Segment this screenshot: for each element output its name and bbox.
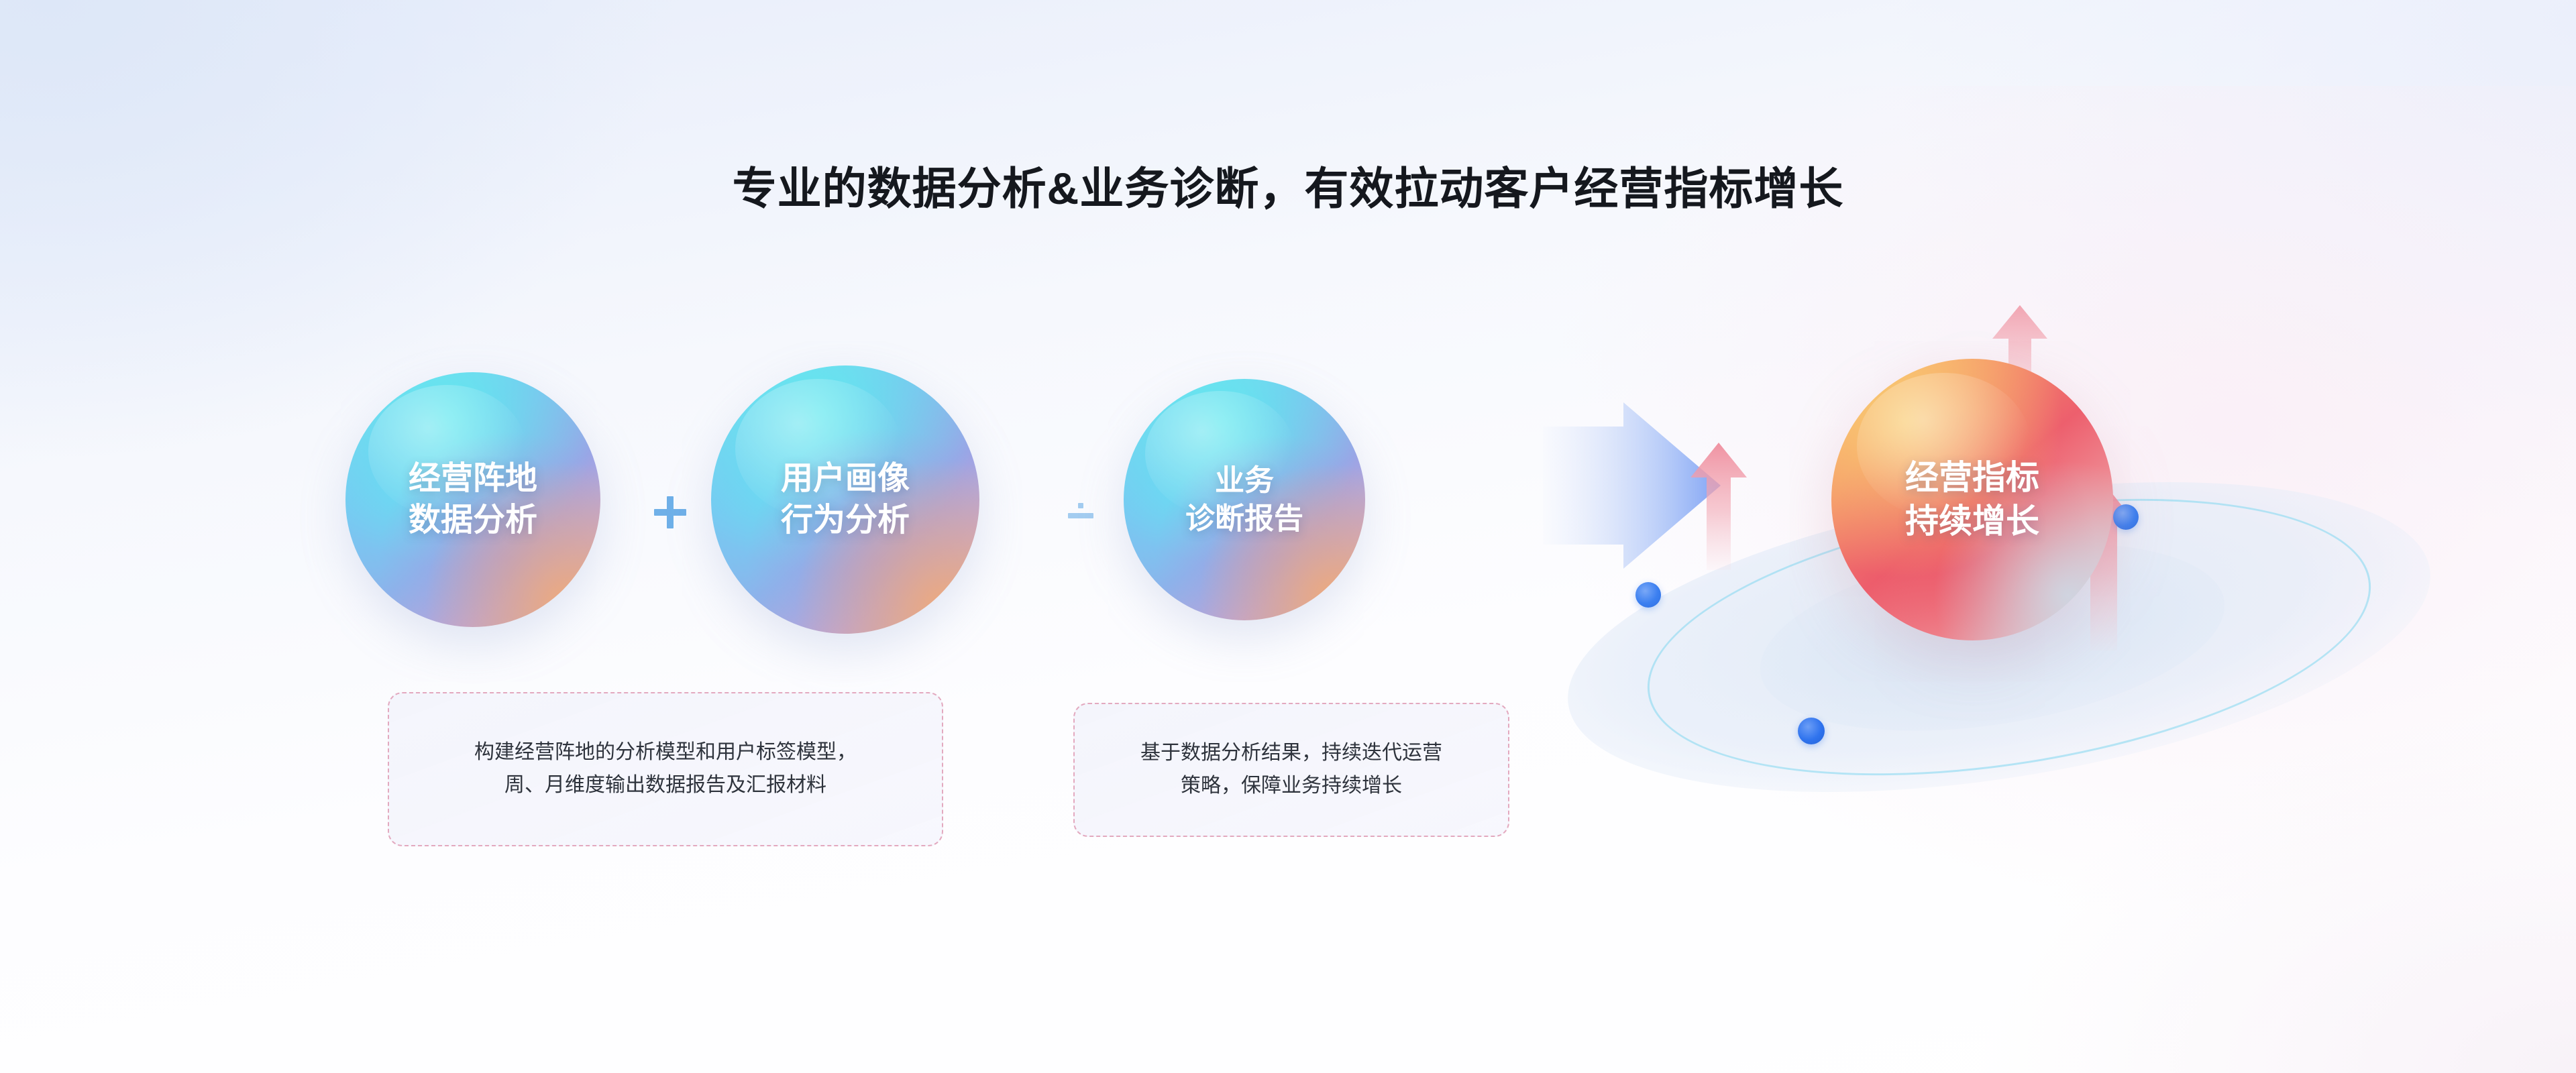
plus-bar-horizontal xyxy=(1068,513,1093,518)
sphere-label-line2: 行为分析 xyxy=(781,500,910,541)
sphere-business-metrics-growth[interactable]: 经营指标 持续增长 xyxy=(1831,359,2113,640)
sphere-label-line1: 用户画像 xyxy=(781,458,910,500)
sphere-dot-icon-1 xyxy=(1635,582,1661,608)
sphere-label-line2: 数据分析 xyxy=(409,500,537,541)
sphere-label-line2: 诊断报告 xyxy=(1185,500,1303,538)
sphere-label-line1: 业务 xyxy=(1215,461,1274,500)
page-title: 专业的数据分析&业务诊断，有效拉动客户经营指标增长 xyxy=(0,153,2576,217)
sphere-business-diagnosis-report[interactable]: 业务 诊断报告 xyxy=(1124,379,1365,620)
sphere-user-profile-behavior-analysis[interactable]: 用户画像 行为分析 xyxy=(711,365,979,634)
caption-box-analysis-model: 构建经营阵地的分析模型和用户标签模型， 周、月维度输出数据报告及汇报材料 xyxy=(388,692,943,846)
caption-text: 基于数据分析结果，持续迭代运营 策略，保障业务持续增长 xyxy=(1140,737,1442,802)
arrow-up-icon-1 xyxy=(1690,443,1747,570)
sphere-dot-icon-2 xyxy=(1798,718,1825,744)
caption-text: 构建经营阵地的分析模型和用户标签模型， 周、月维度输出数据报告及汇报材料 xyxy=(474,736,857,801)
plus-bar-vertical xyxy=(667,496,674,528)
plus-icon-2 xyxy=(1068,503,1093,528)
plus-bar-vertical xyxy=(1078,503,1083,508)
sphere-label-line1: 经营指标 xyxy=(1905,456,2039,500)
sphere-label-line1: 经营阵地 xyxy=(409,458,537,500)
sphere-dot-icon-3 xyxy=(2113,504,2139,530)
caption-box-iterate-strategy: 基于数据分析结果，持续迭代运营 策略，保障业务持续增长 xyxy=(1073,703,1509,837)
sphere-label-line2: 持续增长 xyxy=(1905,500,2039,543)
sphere-operating-position-data-analysis[interactable]: 经营阵地 数据分析 xyxy=(345,372,600,627)
plus-icon-1 xyxy=(654,496,686,528)
